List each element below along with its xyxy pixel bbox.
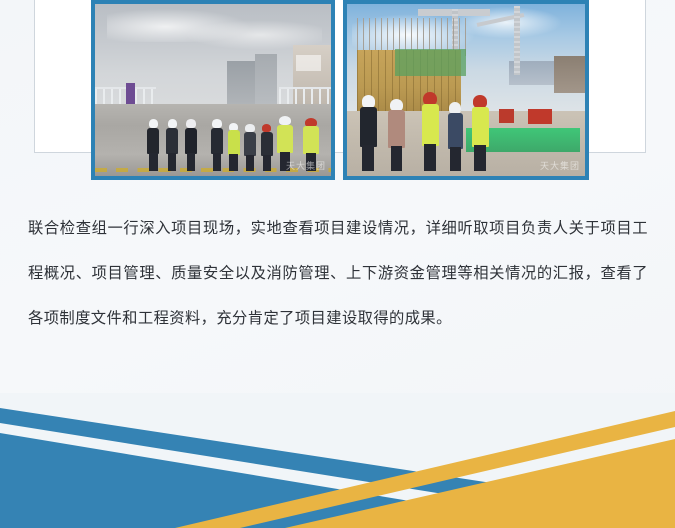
person-figure [387, 99, 405, 171]
photo-content-left: 天大集团 [95, 4, 331, 176]
person-figure [447, 102, 464, 171]
green-safety-net [395, 49, 466, 77]
person-figure-hi-vis [227, 123, 240, 171]
person-figure [359, 95, 378, 171]
person-figure [185, 119, 198, 171]
photo-inspection-group-on-road[interactable]: 天大集团 [91, 0, 335, 180]
tower-crane-mast [514, 6, 521, 75]
red-barrier [499, 109, 513, 123]
person-figure [166, 119, 179, 171]
photo-content-right: 天大集团 [347, 4, 585, 176]
article-paragraph: 联合检查组一行深入项目现场，实地查看项目建设情况，详细听取项目负责人关于项目工程… [28, 206, 648, 341]
person-figure [260, 124, 273, 170]
red-barrier [528, 109, 552, 124]
photo-watermark: 天大集团 [286, 159, 326, 172]
purple-flag [126, 83, 135, 105]
building-tower-mid [255, 54, 276, 106]
photo-watermark: 天大集团 [540, 159, 580, 172]
building-tower-left [227, 61, 258, 106]
person-figure [244, 124, 257, 170]
photo-gallery: 天大集团 [0, 0, 675, 182]
person-figure [147, 119, 160, 171]
person-figure-hi-vis [421, 92, 440, 171]
page-root: 天大集团 [0, 0, 675, 528]
person-figure-hi-vis [471, 95, 490, 171]
photo-construction-site-cranes[interactable]: 天大集团 [343, 0, 589, 180]
person-figure [211, 119, 224, 171]
footer-decoration [0, 393, 675, 528]
temple-roof-building [554, 56, 585, 94]
diagonal-ribbon-banner [0, 393, 675, 528]
